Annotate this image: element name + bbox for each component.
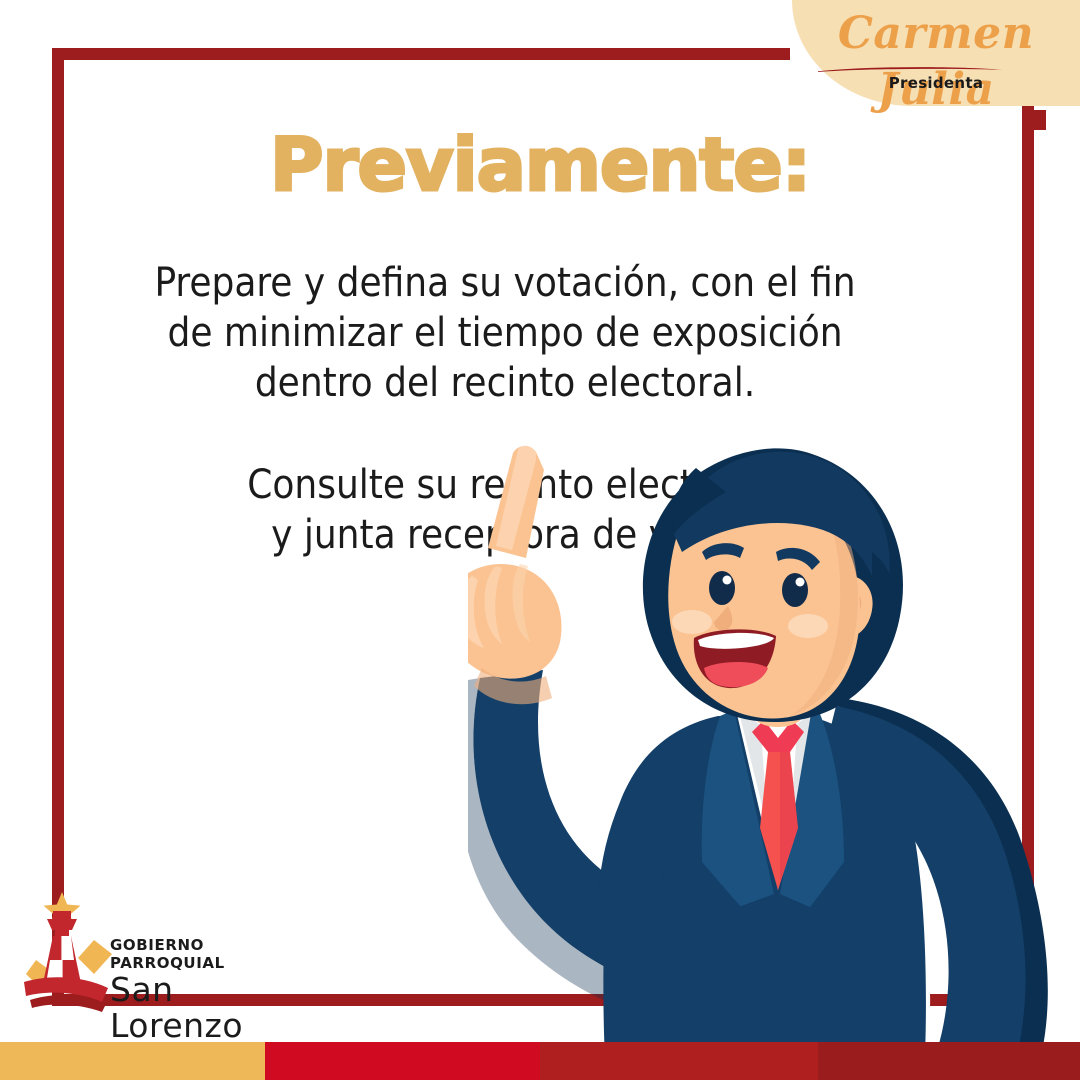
bar-segment-mid-red — [540, 1042, 818, 1080]
bar-segment-bright-red — [265, 1042, 540, 1080]
badge-role-label: Presidenta — [792, 74, 1080, 92]
poster-canvas: Carmen Julia Presidenta Previamente: Pre… — [0, 0, 1080, 1080]
paragraph-1-line-2: de minimizar el tiempo de exposición — [70, 308, 940, 358]
logo-wordmark: GOBIERNO PARROQUIAL San Lorenzo — [110, 936, 272, 1044]
gobierno-parroquial-logo: GOBIERNO PARROQUIAL San Lorenzo — [22, 888, 272, 1014]
paragraph-2-line-1: Consulte su recinto electoral — [70, 460, 940, 510]
logo-line-gobierno: GOBIERNO PARROQUIAL — [110, 936, 272, 972]
bar-segment-dark-red — [818, 1042, 1080, 1080]
badge-name-script: Carmen Julia — [792, 6, 1080, 118]
presidenta-badge: Carmen Julia Presidenta — [792, 0, 1080, 106]
badge-swoosh-underline — [818, 66, 1003, 72]
paragraph-1: Prepare y defina su votación, con el fin… — [70, 258, 940, 408]
body-copy: Prepare y defina su votación, con el fin… — [70, 258, 940, 560]
page-title: Previamente: — [100, 124, 980, 208]
paragraph-2: Consulte su recinto electoral y junta re… — [70, 460, 940, 560]
frame-red-tab — [1022, 110, 1046, 130]
paragraph-1-line-1: Prepare y defina su votación, con el fin — [70, 258, 940, 308]
logo-line-san-lorenzo: San Lorenzo — [110, 972, 272, 1044]
paragraph-1-line-3: dentro del recinto electoral. — [70, 358, 940, 408]
paragraph-2-line-2: y junta receptora de voto. — [70, 510, 940, 560]
bottom-color-bar — [0, 1042, 1080, 1080]
bar-segment-gold — [0, 1042, 265, 1080]
